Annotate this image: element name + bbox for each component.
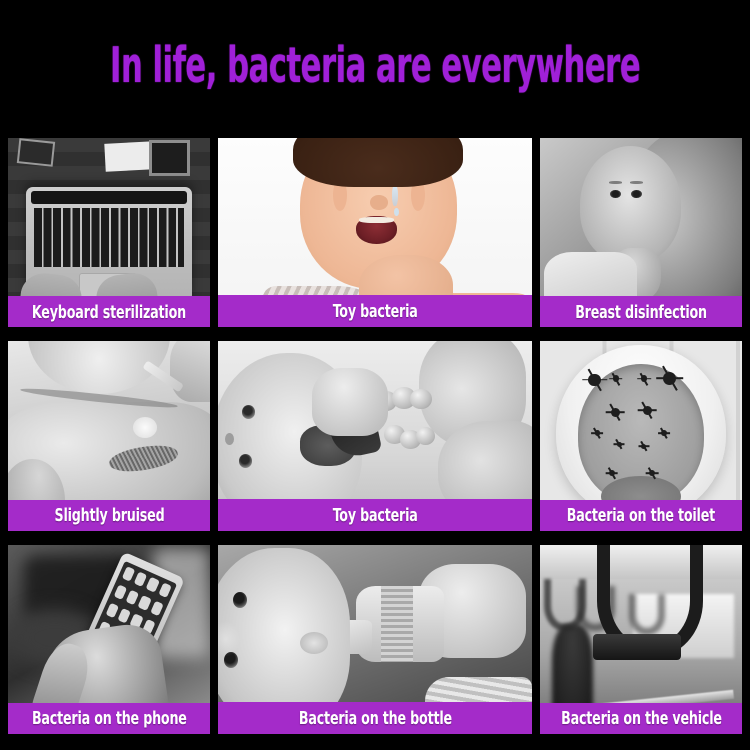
cell-caption-text: Toy bacteria [333,504,418,525]
cell-caption: Toy bacteria [218,295,532,327]
grid-cell-bacteria-on-toilet[interactable]: Bacteria on the toilet [540,341,742,530]
app-icon [121,566,135,581]
germ-icon [641,375,647,382]
grid-cell-bacteria-on-vehicle[interactable]: Bacteria on the vehicle [540,545,742,734]
baby-right-eye-icon [631,190,642,198]
grid-cell-toy-bacteria-teether[interactable]: Toy bacteria [218,341,532,530]
grid-cell-keyboard-sterilization[interactable]: Keyboard sterilization [8,138,210,327]
cell-caption: Keyboard sterilization [8,296,210,327]
cell-caption-text: Slightly bruised [54,505,164,526]
cell-caption-text: Keyboard sterilization [32,301,186,322]
cell-caption-text: Bacteria on the bottle [298,707,451,728]
germ-icon [588,374,600,386]
baby-hair-icon [293,138,463,187]
germ-icon [595,430,601,436]
cell-caption-text: Breast disinfection [575,301,707,322]
keyboard-keys-icon [34,208,183,267]
baby-nose-icon [370,195,387,210]
grid-cell-toy-bacteria-crying[interactable]: Toy bacteria [218,138,532,327]
baby-open-mouth-icon [356,216,397,244]
cell-caption-text: Bacteria on the toilet [567,505,715,526]
germ-icon [643,406,652,415]
baby-nose-icon [300,632,328,655]
bottle-ring-icon [381,586,412,662]
cell-caption-text: Bacteria on the vehicle [561,708,722,729]
baby-cheek-icon [218,621,240,657]
cell-caption: Bacteria on the vehicle [540,703,742,734]
grid-cell-bacteria-on-bottle[interactable]: Bacteria on the bottle [218,545,532,734]
app-icon [125,590,139,605]
app-icon [150,601,164,616]
toy-bead-icon [410,389,432,410]
grid-cell-breast-disinfection[interactable]: Breast disinfection [540,138,742,327]
baby-left-brow-icon [609,181,622,184]
baby-upper-eye-icon [242,405,256,419]
germ-icon [661,430,667,436]
cell-caption: Bacteria on the phone [8,703,210,734]
app-icon [138,595,152,610]
grid-cell-bacteria-on-phone[interactable]: Bacteria on the phone [8,545,210,734]
desk-notebook-icon [17,138,56,166]
tear-drop-icon [394,208,399,216]
germ-icon [609,470,615,476]
baby-left-eye-icon [610,190,621,198]
germ-icon [617,442,622,447]
baby-nose-icon [225,433,234,445]
app-icon [105,603,119,618]
cell-caption: Breast disinfection [540,296,742,327]
toy-bead-icon [416,427,435,445]
tear-icon [392,185,397,206]
germ-icon [649,470,655,476]
cell-caption: Toy bacteria [218,499,532,531]
adult-fingers-icon [170,341,210,402]
image-grid: Keyboard sterilization [8,138,742,734]
baby-teeth-icon [359,217,393,223]
handle-grip-icon [593,634,682,661]
baby-upper-eye-icon [233,592,247,608]
cell-caption-text: Toy bacteria [333,301,418,322]
app-icon [134,571,148,586]
app-icon [158,582,172,597]
germ-icon [641,444,646,449]
grid-cell-slightly-bruised[interactable]: Slightly bruised [8,341,210,530]
app-icon [117,608,131,623]
page-title: In life, bacteria are everywhere [0,0,750,130]
cell-caption: Bacteria on the toilet [540,500,742,531]
app-icon [146,577,160,592]
cell-caption-text: Bacteria on the phone [32,708,187,729]
page-title-text: In life, bacteria are everywhere [110,37,640,94]
laptop-hinge-icon [31,191,187,204]
baby-lower-eye-icon [239,454,253,468]
baby-right-brow-icon [630,181,643,184]
app-icon [113,584,127,599]
cell-caption: Slightly bruised [8,500,210,531]
cell-caption: Bacteria on the bottle [218,702,532,734]
baby-hand-icon [312,368,387,436]
germ-icon [611,408,620,417]
desk-frame-icon [149,140,189,176]
promo-banner: In life, bacteria are everywhere Keyboar… [0,0,750,750]
germ-icon [613,375,619,382]
baby-head-icon [580,146,681,263]
